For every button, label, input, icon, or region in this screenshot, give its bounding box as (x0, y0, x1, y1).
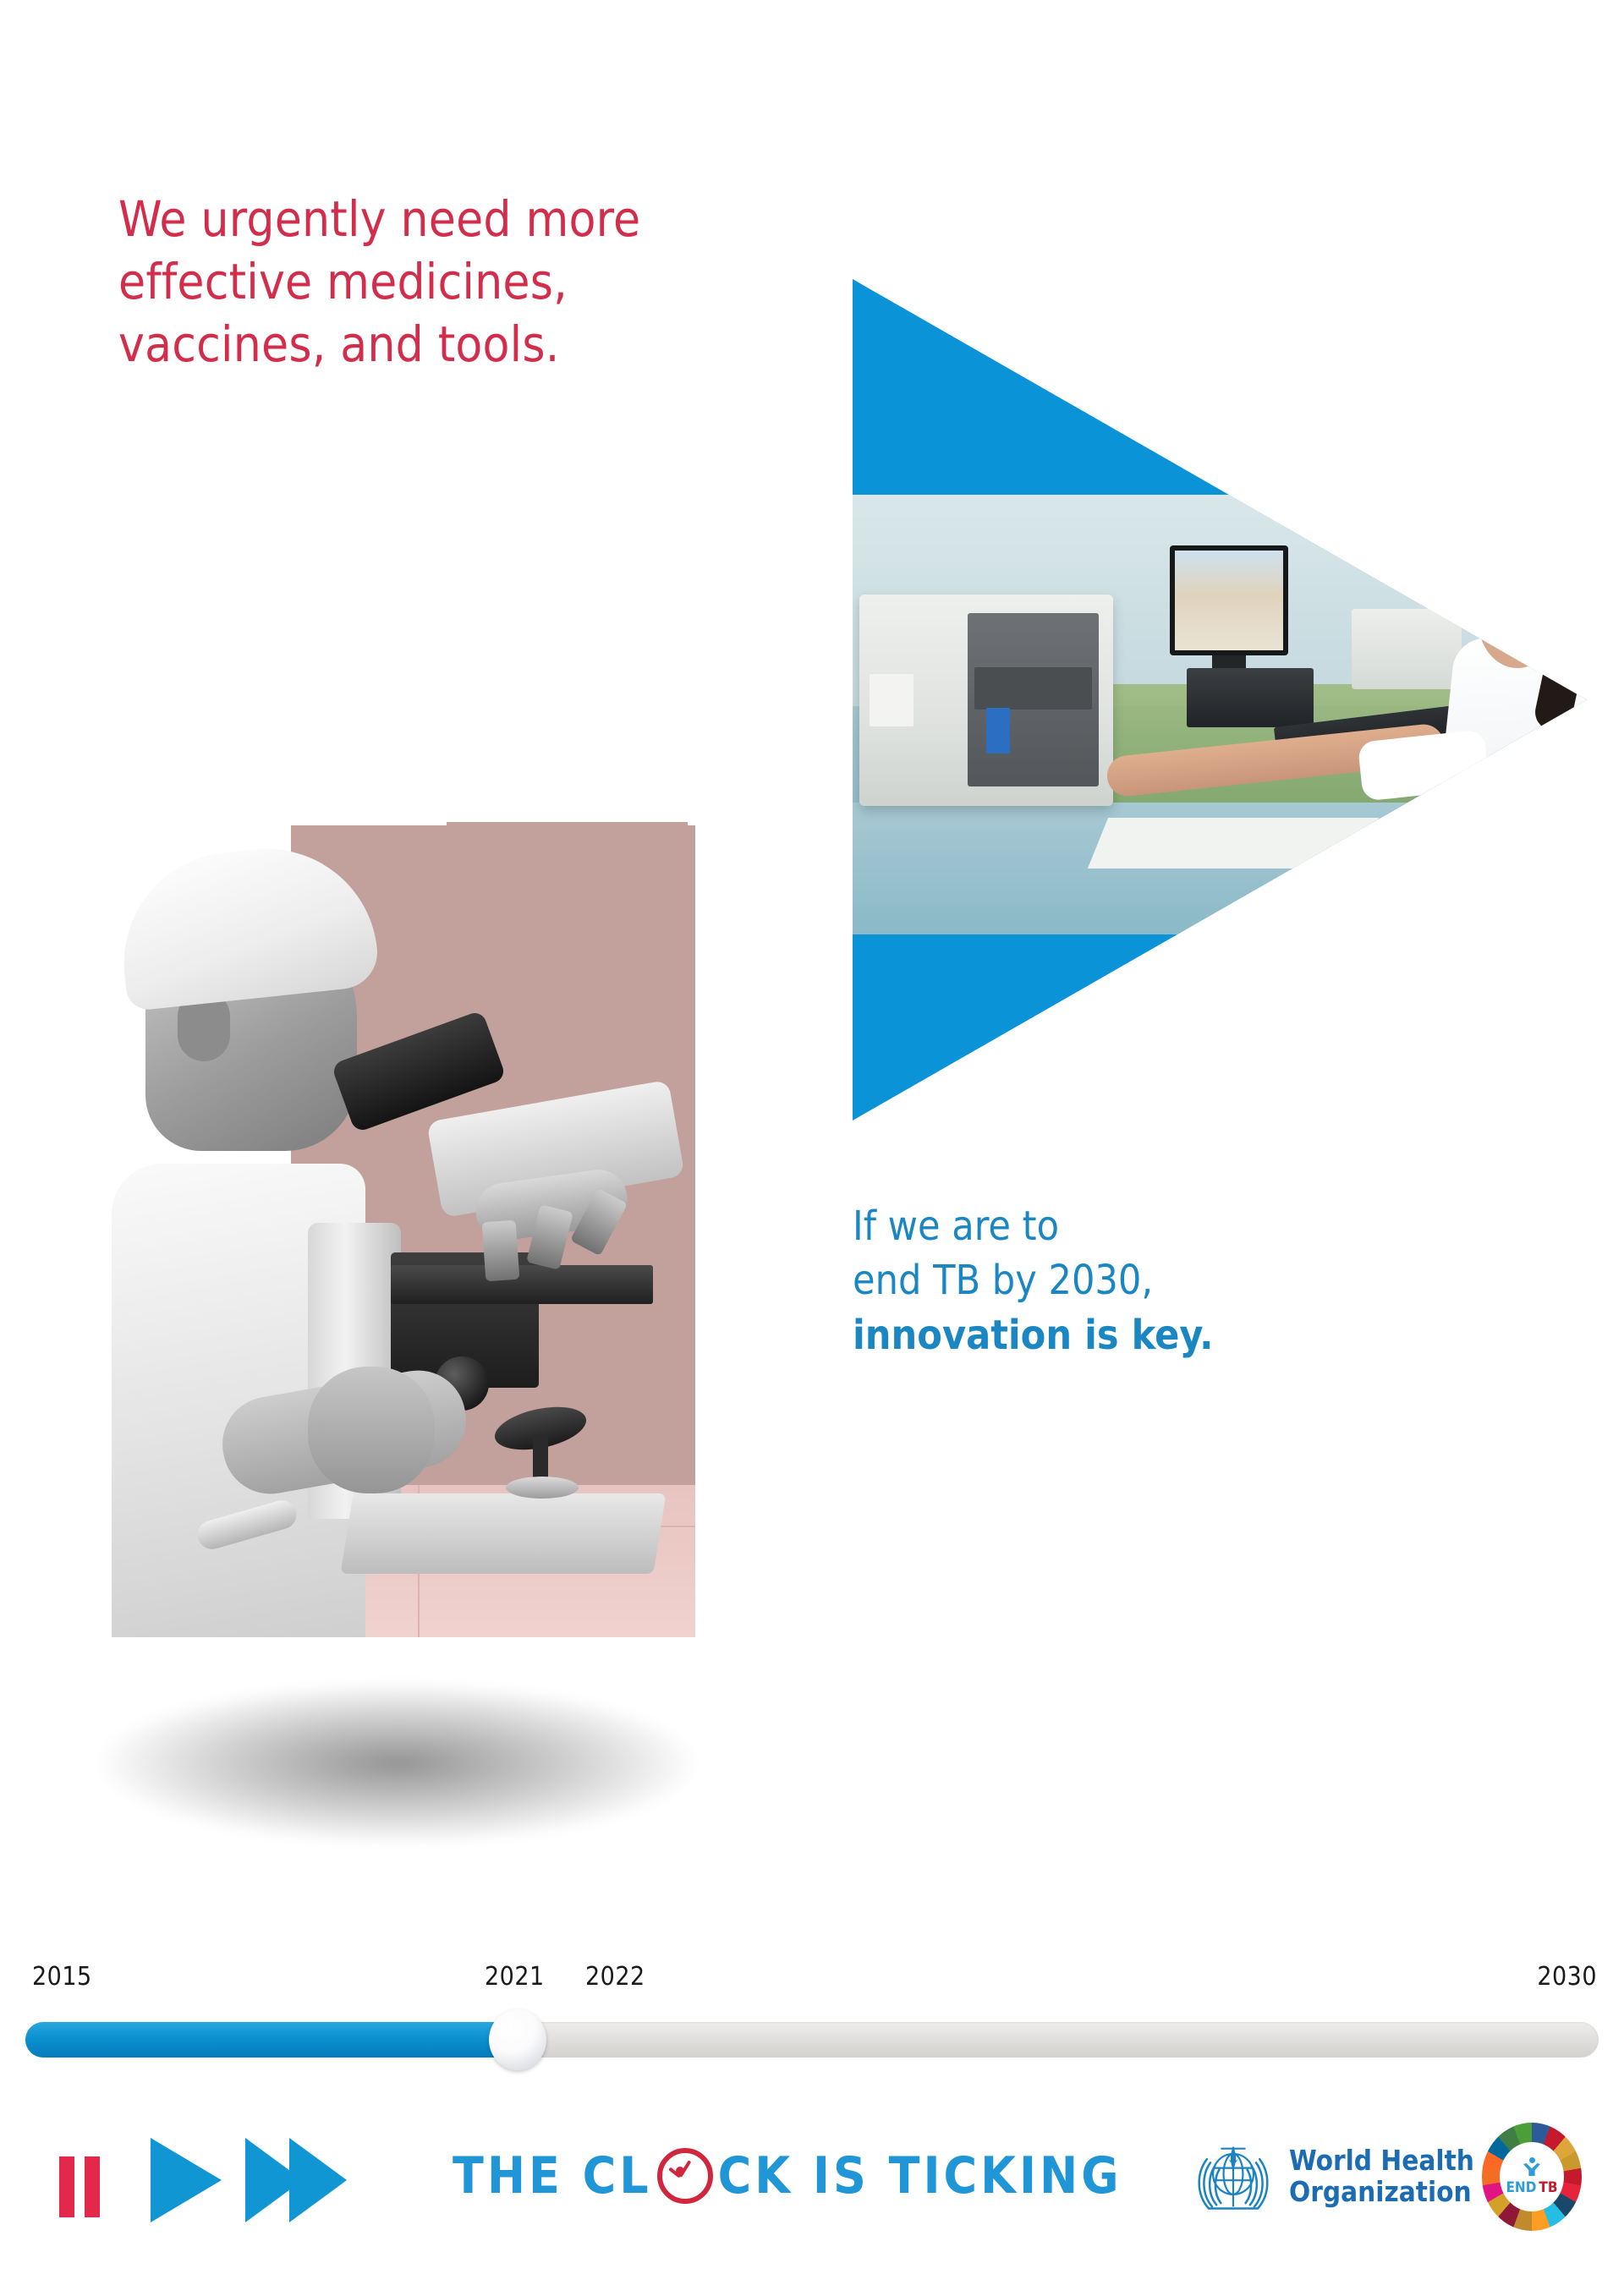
end-tb-word-end: END (1506, 2179, 1536, 2196)
subcopy-line-1: If we are to (853, 1199, 1445, 1253)
subcopy-line-2: end TB by 2030, (853, 1253, 1445, 1307)
end-tb-center: END TB (1482, 2123, 1582, 2231)
microscope-base (340, 1493, 666, 1574)
clock-center-pin (676, 2167, 684, 2175)
microscope-mirror-foot (506, 1477, 579, 1499)
printer (1352, 609, 1462, 689)
timeline-year-marker-1: 2021 (485, 1962, 545, 1992)
pc-tower (1187, 668, 1314, 727)
pause-bar-right (85, 2156, 100, 2217)
fast-forward-triangle-2 (289, 2138, 347, 2222)
timeline-year-end: 2030 (1537, 1962, 1597, 1992)
page-headline: We urgently need more effective medicine… (118, 188, 795, 376)
lab-technician-triangle-photo (853, 279, 1587, 1121)
machine-label (870, 674, 913, 726)
technician-sleeve (1358, 729, 1490, 801)
who-logo: World Health Organization (1189, 2133, 1474, 2221)
progress-slider-thumb[interactable] (489, 2009, 546, 2070)
end-tb-logo: END TB (1482, 2123, 1582, 2231)
photo-drop-shadow (101, 1683, 694, 1844)
test-cartridge (986, 708, 1010, 753)
technician-hair (1470, 562, 1568, 644)
tagline-text-after-clock: CK IS TICKING (718, 2146, 1122, 2206)
clock-icon (657, 2148, 713, 2204)
microscopist-photo (112, 825, 695, 1637)
who-emblem-icon (1189, 2133, 1277, 2221)
computer-monitor (1170, 545, 1288, 655)
microscope-stage (391, 1265, 653, 1304)
headline-line-1: We urgently need more (118, 188, 795, 250)
person-head (1529, 2157, 1535, 2163)
technician-head (1479, 575, 1556, 668)
monitor-screen (1175, 551, 1283, 650)
who-wordmark-line-1: World Health (1289, 2145, 1474, 2177)
end-tb-word-tb: TB (1539, 2179, 1557, 2196)
lab-scene (853, 279, 1587, 1121)
person-body (1523, 2163, 1540, 2176)
end-tb-text: END TB (1506, 2179, 1557, 2196)
who-wordmark: World Health Organization (1289, 2145, 1474, 2208)
progress-slider-track[interactable] (25, 2022, 1599, 2058)
paper-form (1088, 818, 1379, 869)
progress-slider-fill (25, 2022, 516, 2058)
page-subcopy: If we are to end TB by 2030, innovation … (853, 1199, 1445, 1362)
tagline-text-before-clock: THE CL (453, 2146, 652, 2206)
microscope-objective-lens (482, 1220, 520, 1282)
pause-icon[interactable] (59, 2156, 105, 2217)
genexpert-machine (859, 595, 1113, 806)
fast-forward-icon[interactable] (245, 2138, 347, 2222)
timeline-year-marker-2: 2022 (585, 1962, 645, 1992)
lab-photo-area (853, 495, 1587, 934)
headline-line-2: effective medicines, (118, 250, 795, 313)
timeline-year-start: 2015 (32, 1962, 92, 1992)
worker-hand (308, 1367, 435, 1493)
person-icon (1522, 2157, 1542, 2178)
campaign-tagline: THE CL CK IS TICKING (453, 2143, 1122, 2209)
headline-line-3: vaccines, and tools. (118, 313, 795, 375)
pause-bar-left (59, 2156, 74, 2217)
who-wordmark-line-2: Organization (1289, 2177, 1474, 2208)
genexpert-module-slots (974, 667, 1092, 710)
subcopy-line-3: innovation is key. (853, 1308, 1445, 1362)
